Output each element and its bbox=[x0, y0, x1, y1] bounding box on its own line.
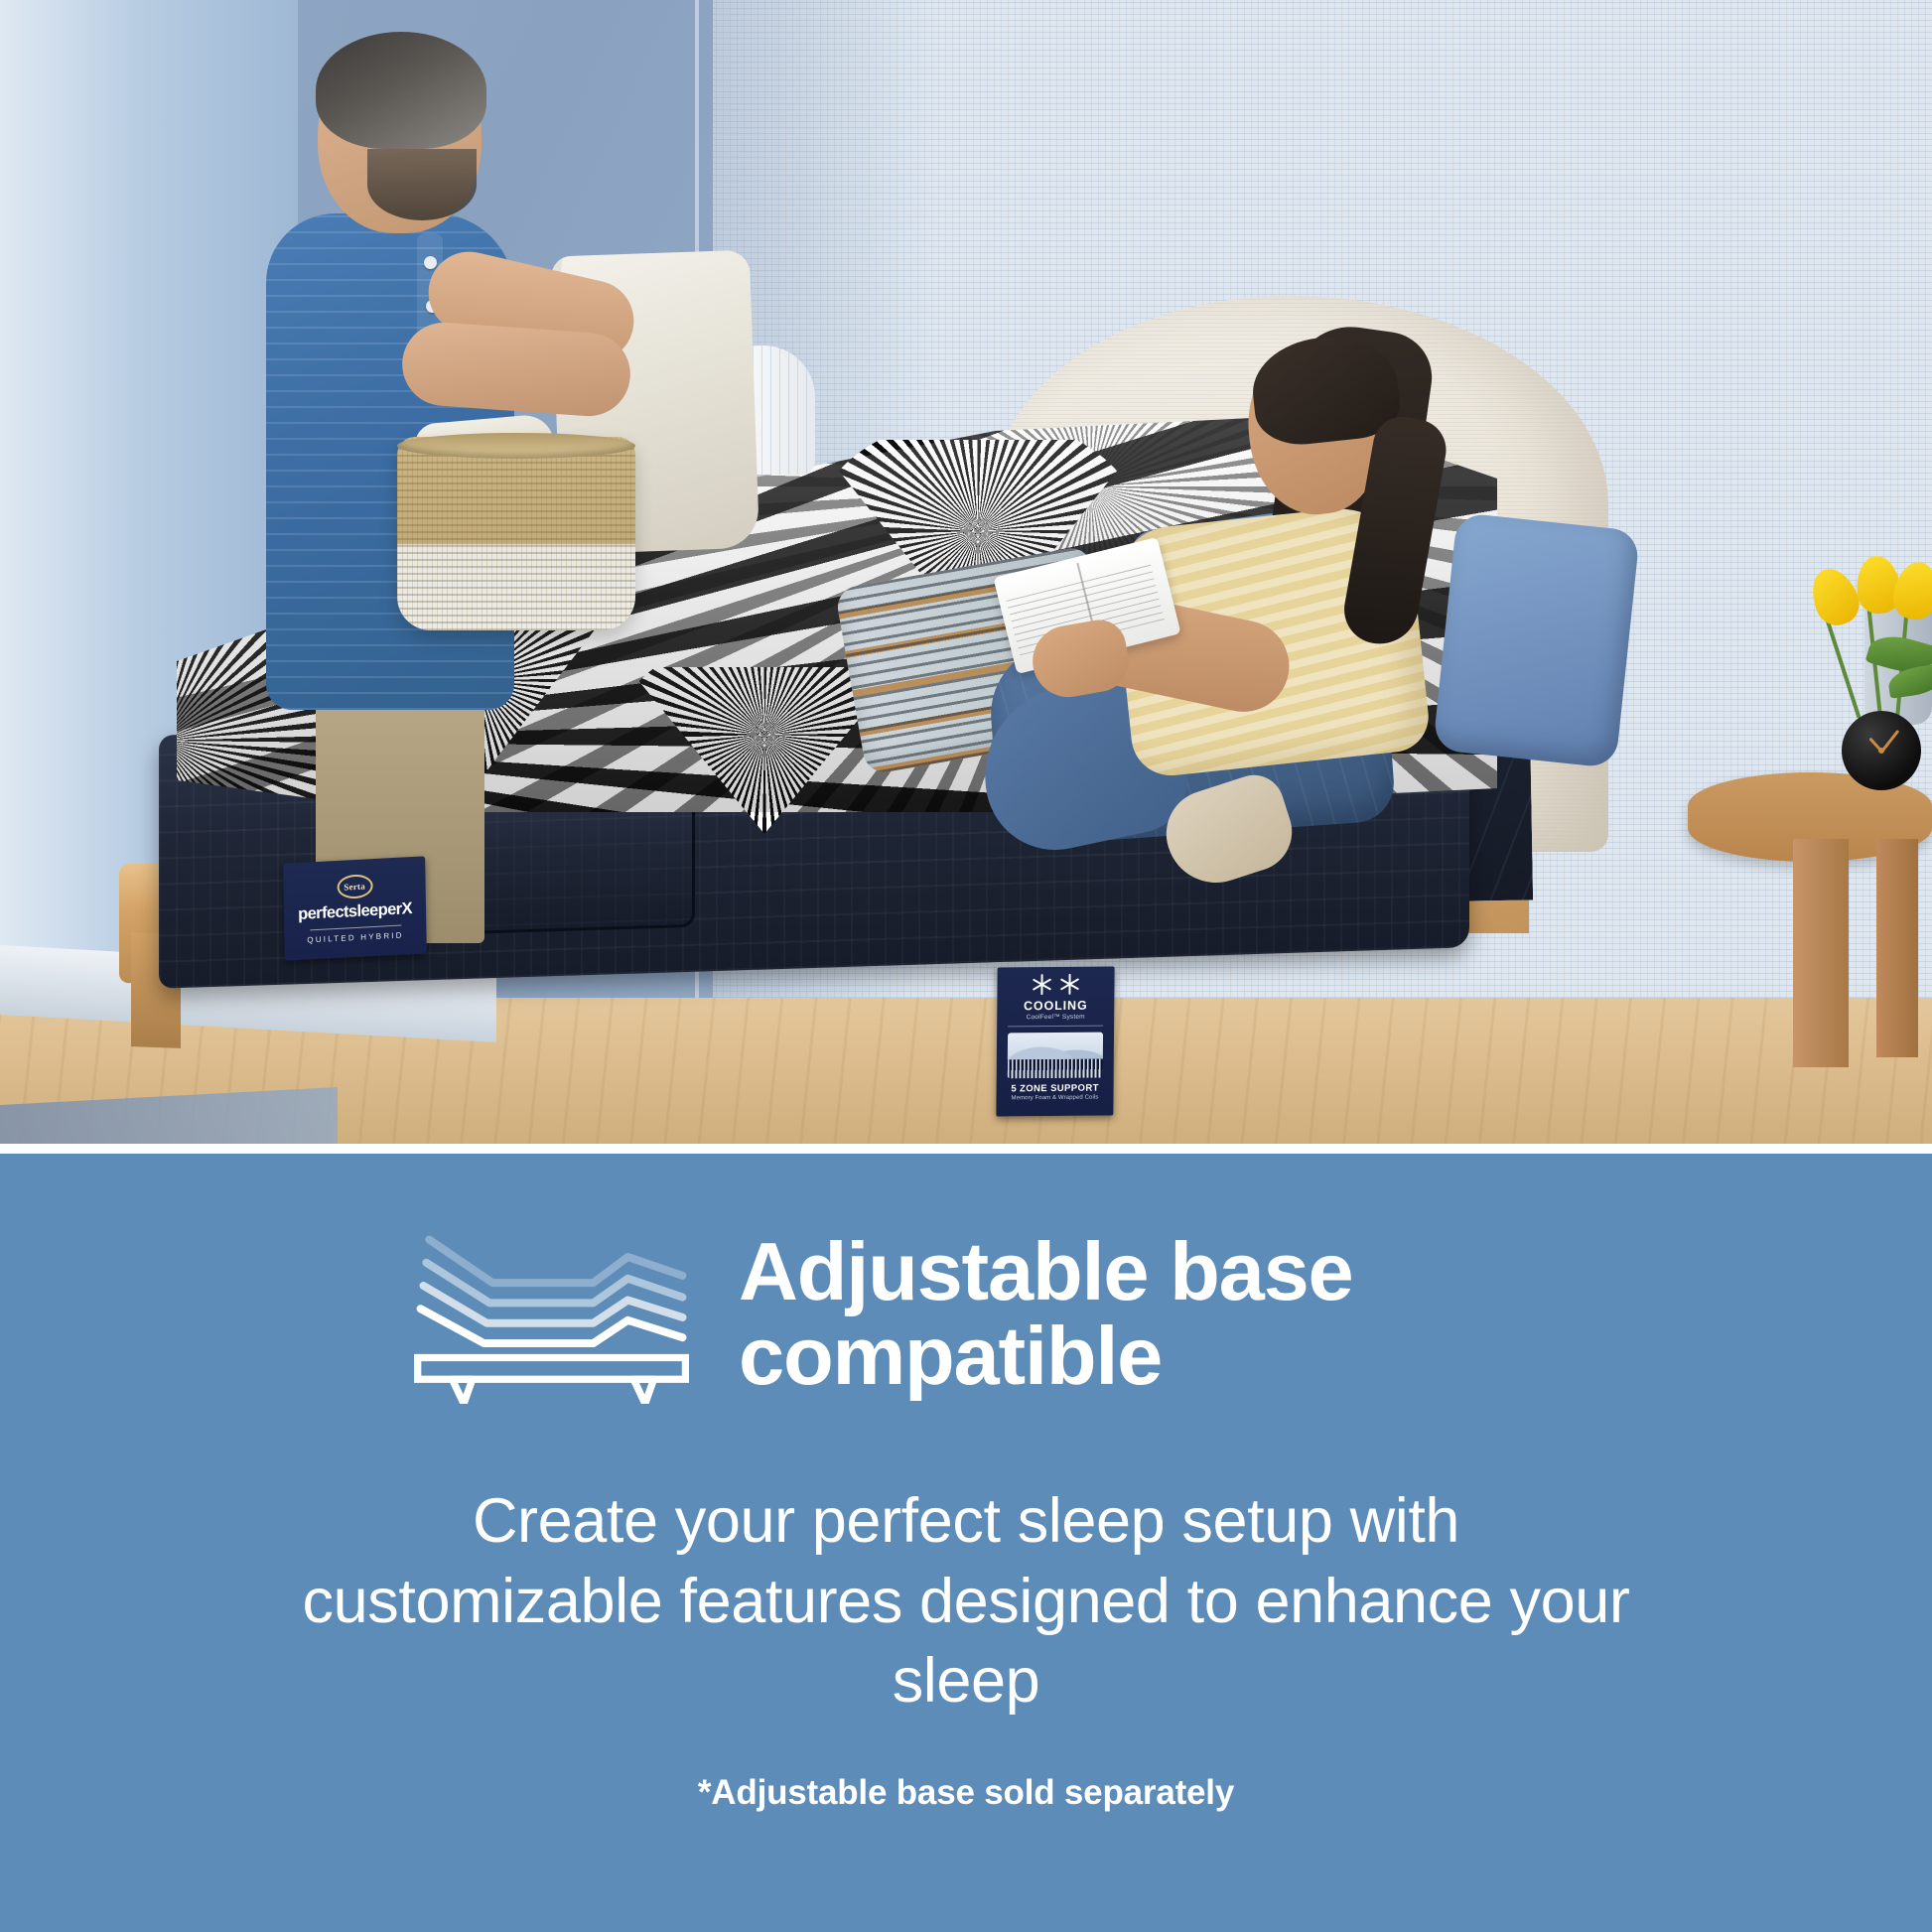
serta-wordmark: Serta bbox=[344, 881, 365, 892]
basket-rim bbox=[397, 433, 635, 459]
shirt-button bbox=[424, 256, 437, 269]
feature-panel: Adjustable base compatible Create your p… bbox=[0, 1154, 1932, 1932]
mattress-feature-label: COOLING CoolFeel™ System 5 ZONE SUPPORT … bbox=[996, 966, 1114, 1116]
panel-body-text: Create your perfect sleep setup with cus… bbox=[291, 1481, 1641, 1722]
man-beard bbox=[367, 149, 477, 220]
panel-separator bbox=[0, 1144, 1932, 1154]
panel-headline: Adjustable base compatible bbox=[739, 1230, 1533, 1398]
snowflake-icon bbox=[1032, 974, 1052, 995]
tulip-bouquet bbox=[1777, 556, 1932, 745]
cooling-subtitle: CoolFeel™ System bbox=[1027, 1014, 1085, 1022]
clock-center-pin bbox=[1878, 748, 1884, 754]
snowflake-icons bbox=[1032, 974, 1080, 995]
mattress-model-name: perfectsleeperX bbox=[298, 899, 412, 924]
serta-logo-icon: Serta bbox=[337, 874, 372, 899]
blue-pillow-right bbox=[1433, 512, 1640, 768]
label-divider bbox=[310, 925, 401, 931]
panel-header-row: Adjustable base compatible bbox=[0, 1154, 1932, 1404]
nightstand-leg-back bbox=[1876, 839, 1918, 1057]
woven-laundry-basket bbox=[397, 437, 635, 630]
zone-title: 5 ZONE SUPPORT bbox=[1011, 1083, 1099, 1095]
mattress-brand-label: Serta perfectsleeperX QUILTED HYBRID bbox=[283, 856, 427, 960]
zone-support-illustration-icon bbox=[1008, 1033, 1103, 1079]
zone-subtitle: Memory Foam & Wrapped Coils bbox=[1011, 1095, 1098, 1102]
promo-page: Serta perfectsleeperX QUILTED HYBRID COO… bbox=[0, 0, 1932, 1932]
adjustable-base-icon bbox=[399, 1225, 697, 1404]
panel-footnote: *Adjustable base sold separately bbox=[0, 1773, 1932, 1813]
desk-clock bbox=[1842, 711, 1921, 790]
label-divider bbox=[1008, 1026, 1103, 1028]
cooling-title: COOLING bbox=[1024, 999, 1088, 1014]
nightstand-leg bbox=[1793, 839, 1849, 1067]
snowflake-icon bbox=[1059, 974, 1080, 995]
lifestyle-photo: Serta perfectsleeperX QUILTED HYBRID COO… bbox=[0, 0, 1932, 1144]
man-hair bbox=[316, 32, 486, 149]
man-arm-lower bbox=[399, 320, 632, 419]
mattress-type-label: QUILTED HYBRID bbox=[307, 930, 403, 944]
